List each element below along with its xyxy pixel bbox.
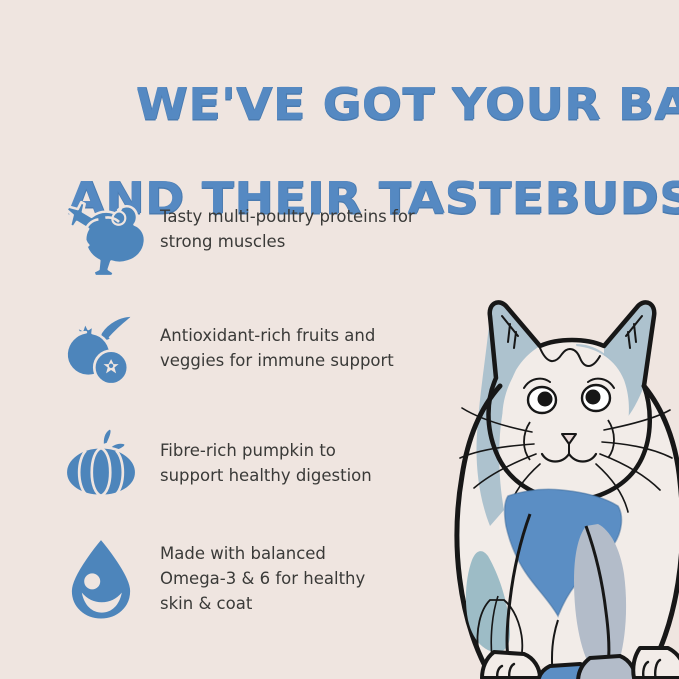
water-drop-icon <box>55 533 147 625</box>
headline-line-1: WE'VE GOT YOUR BACK. <box>136 79 679 130</box>
cat-illustration <box>390 196 679 679</box>
poultry-icon <box>55 188 147 280</box>
promo-graphic: WE'VE GOT YOUR BACK. AND THEIR TASTEBUDS… <box>0 0 679 679</box>
blueberries-icon <box>55 303 147 395</box>
pumpkin-icon <box>55 418 147 510</box>
